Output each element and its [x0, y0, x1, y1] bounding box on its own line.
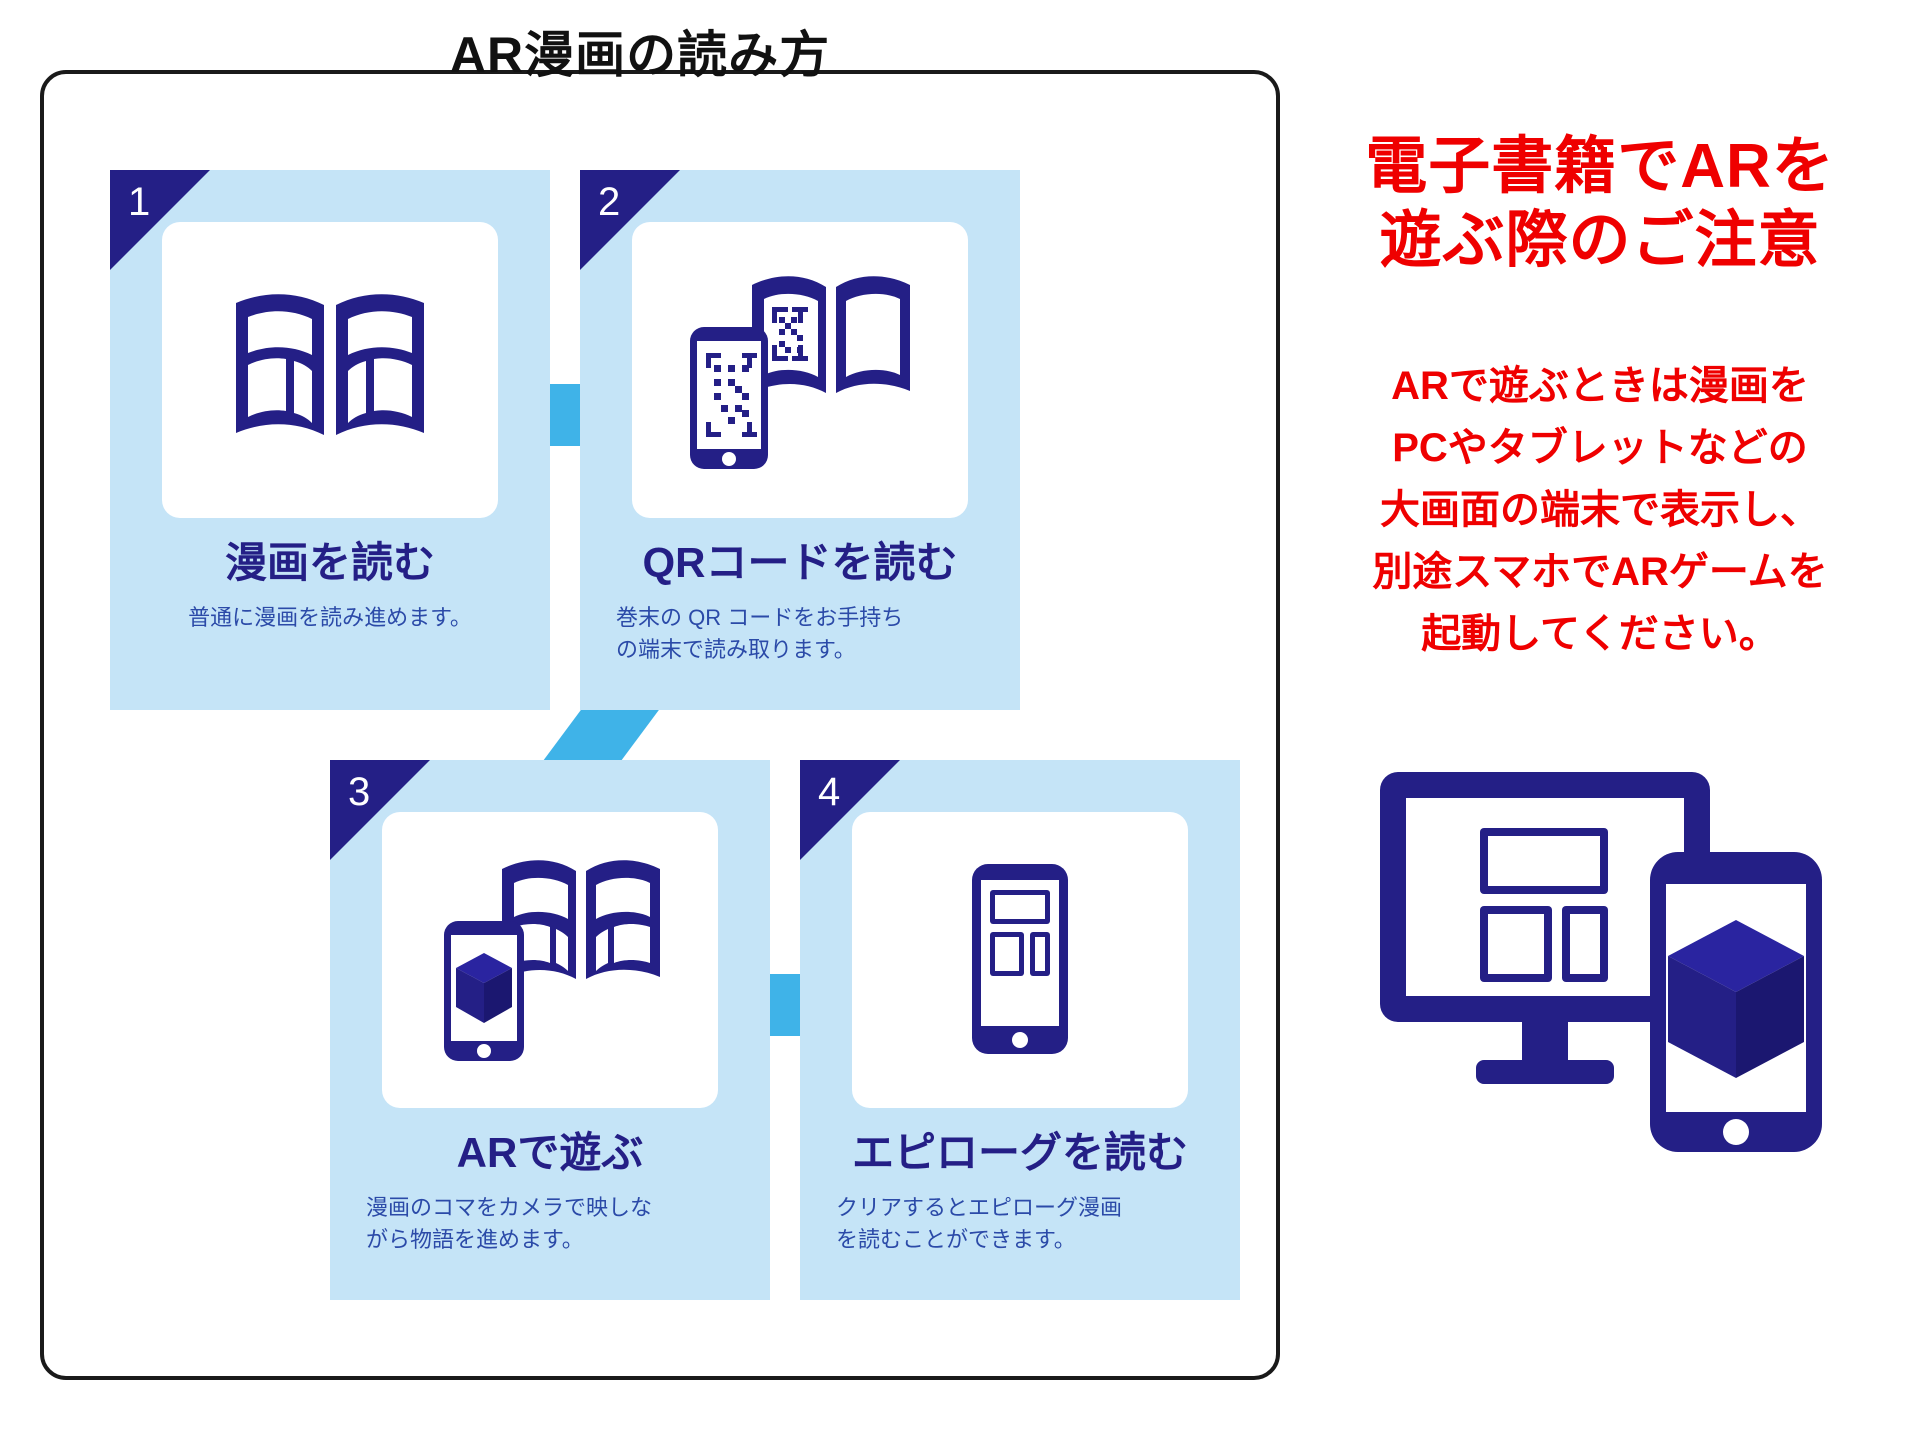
step-description: 普通に漫画を読み進めます。	[146, 602, 514, 634]
step-number-corner: 3	[330, 760, 430, 860]
step-description: クリアするとエピローグ漫画 を読むことができます。	[836, 1192, 1204, 1256]
warning-body-line: PCやタブレットなどの	[1300, 417, 1900, 479]
phone-ar-cube-book-icon	[430, 855, 670, 1065]
step-icon-box	[382, 812, 718, 1108]
step-title: QRコードを読む	[580, 542, 1020, 584]
page-title: AR漫画の読み方	[400, 30, 880, 80]
step-card-4: 4	[800, 760, 1240, 1300]
smartphone-ar-icon	[1650, 852, 1822, 1152]
warning-body-line: 起動してください。	[1300, 603, 1900, 665]
step-description-line: 漫画のコマをカメラで映しな	[366, 1192, 734, 1224]
phone-epilogue-icon	[950, 860, 1090, 1060]
corner-triangle	[330, 760, 430, 860]
step-description: 漫画のコマをカメラで映しな がら物語を進めます。	[366, 1192, 734, 1256]
step-number-corner: 4	[800, 760, 900, 860]
step-number-corner: 2	[580, 170, 680, 270]
connector-step3-step4	[770, 974, 802, 1036]
title-border-gap	[439, 114, 929, 154]
step-grid: 1	[110, 170, 1200, 1300]
step-card-1: 1	[110, 170, 550, 710]
step-card-3: 3	[330, 760, 770, 1300]
step-description-line: を読むことができます。	[836, 1224, 1204, 1256]
warning-panel: 電子書籍でARを 遊ぶ際のご注意 ARで遊ぶときは漫画を PCやタブレットなどの…	[1300, 70, 1900, 1380]
corner-triangle	[800, 760, 900, 860]
corner-triangle	[110, 170, 210, 270]
step-number-label: 1	[128, 182, 150, 222]
warning-title-line: 電子書籍でARを	[1300, 130, 1900, 204]
step-number-corner: 1	[110, 170, 210, 270]
warning-title: 電子書籍でARを 遊ぶ際のご注意	[1300, 130, 1900, 279]
warning-body-line: 別途スマホでARゲームを	[1300, 541, 1900, 603]
step-description: 巻末の QR コードをお手持ち の端末で読み取ります。	[616, 602, 984, 666]
step-title: ARで遊ぶ	[330, 1132, 770, 1174]
step-icon-box	[162, 222, 498, 518]
step-number-label: 2	[598, 182, 620, 222]
open-book-icon	[230, 285, 430, 455]
step-description-line: 普通に漫画を読み進めます。	[146, 602, 514, 634]
step-number-label: 3	[348, 772, 370, 812]
step-description-line: 巻末の QR コードをお手持ち	[616, 602, 984, 634]
step-title: エピローグを読む	[800, 1132, 1240, 1174]
step-number-label: 4	[818, 772, 840, 812]
step-title: 漫画を読む	[110, 542, 550, 584]
warning-body-line: 大画面の端末で表示し、	[1300, 479, 1900, 541]
phone-scanning-qr-book-icon	[680, 265, 920, 475]
step-icon-box	[852, 812, 1188, 1108]
warning-title-line: 遊ぶ際のご注意	[1300, 204, 1900, 278]
step-card-2: 2	[580, 170, 1020, 710]
step-icon-box	[632, 222, 968, 518]
step-description-line: クリアするとエピローグ漫画	[836, 1192, 1204, 1224]
corner-triangle	[580, 170, 680, 270]
connector-step1-step2	[550, 384, 582, 446]
infographic-page: AR漫画の読み方 1	[0, 0, 1920, 1440]
warning-body-line: ARで遊ぶときは漫画を	[1300, 355, 1900, 417]
step-description-line: がら物語を進めます。	[366, 1224, 734, 1256]
monitor-and-smartphone-ar-icon	[1370, 760, 1880, 1160]
warning-body: ARで遊ぶときは漫画を PCやタブレットなどの 大画面の端末で表示し、 別途スマ…	[1300, 355, 1900, 665]
step-description-line: の端末で読み取ります。	[616, 634, 984, 666]
